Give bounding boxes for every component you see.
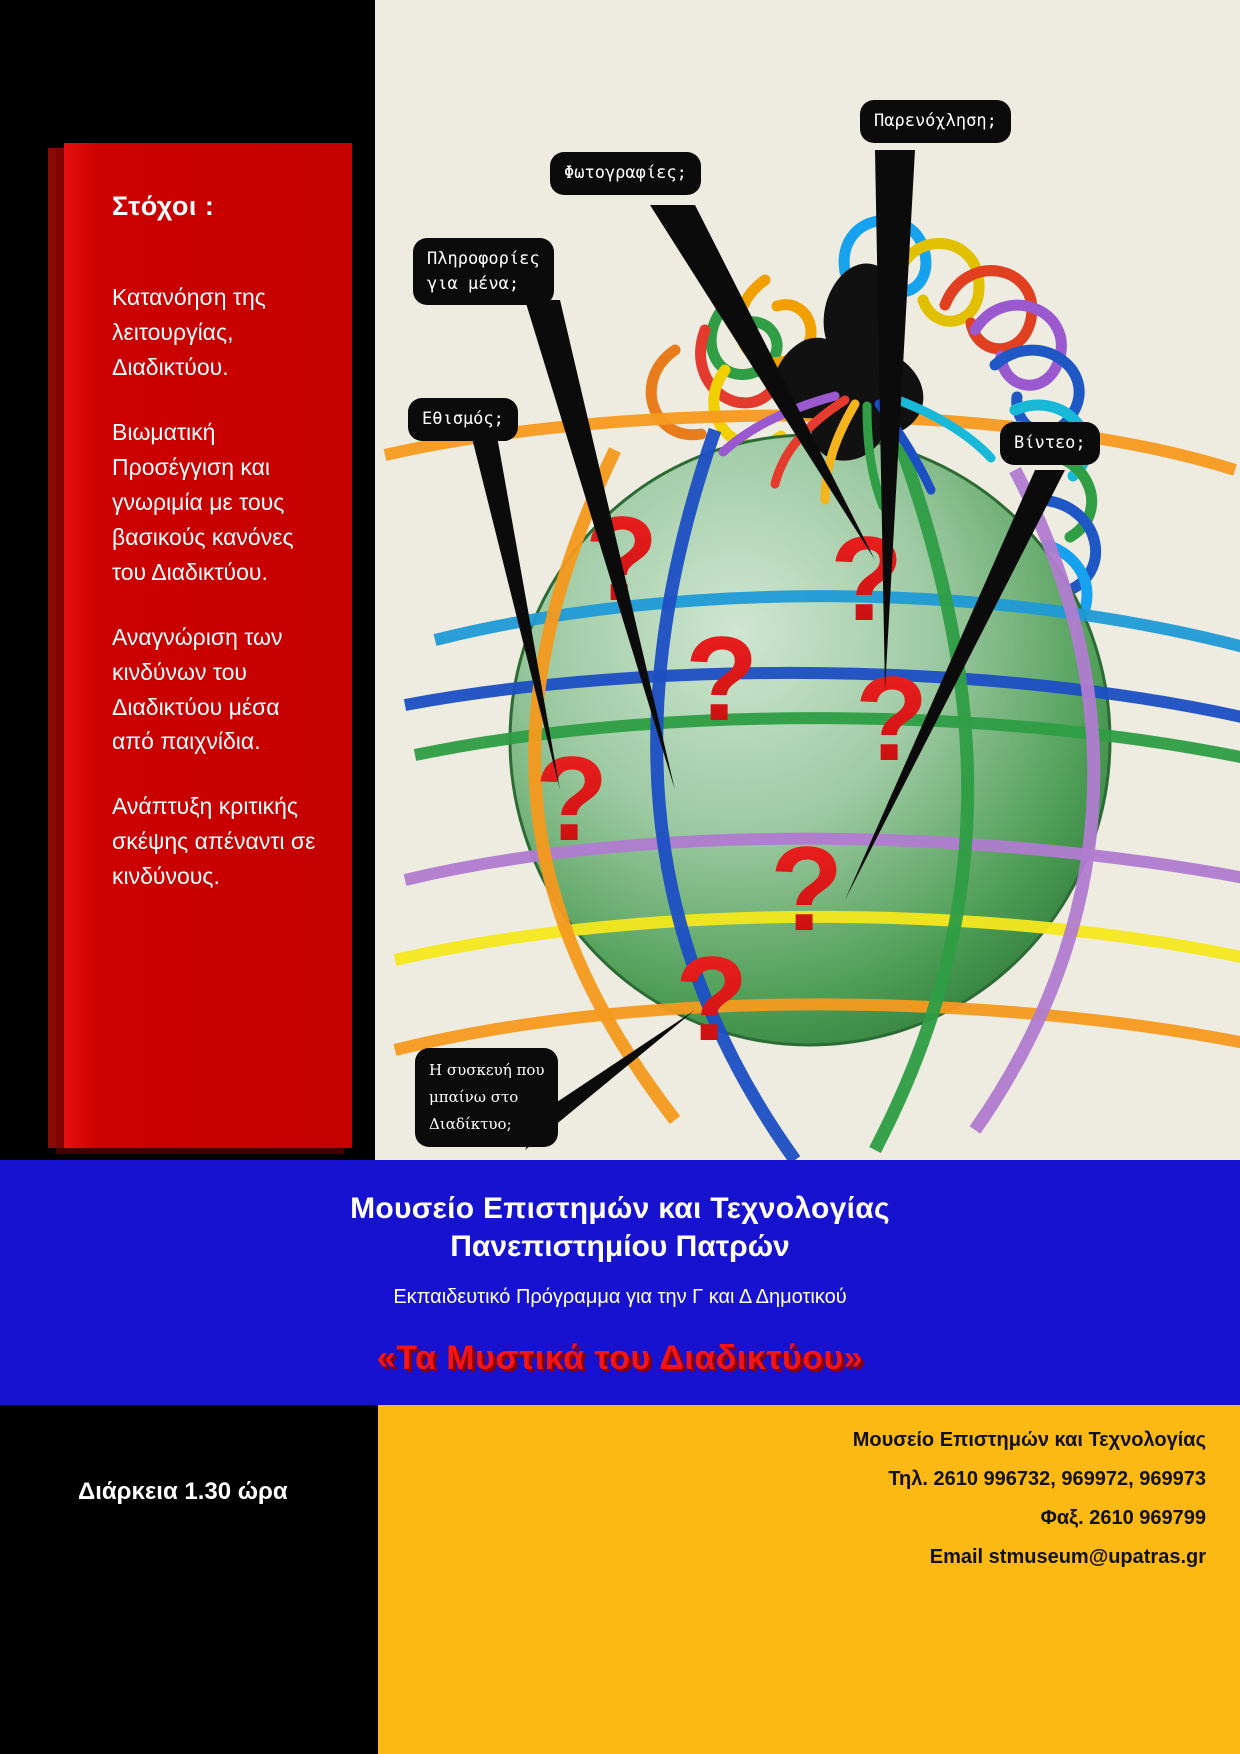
- program-title: «Τα Μυστικά του Διαδικτύου»: [0, 1339, 1240, 1378]
- bubble-harassment[interactable]: Παρενόχληση;: [860, 100, 1011, 143]
- svg-text:?: ?: [535, 732, 608, 866]
- contact-box: Μουσείο Επιστημών και Τεχνολογίας Τηλ. 2…: [378, 1405, 1240, 1754]
- poster-root: ? ? ? ? ? ? ? Εθισμός; Πληροφορίες για μ…: [0, 0, 1240, 1754]
- svg-text:?: ?: [830, 512, 903, 646]
- svg-text:?: ?: [675, 932, 748, 1066]
- objectives-title: Στόχοι :: [112, 191, 326, 222]
- svg-text:?: ?: [770, 822, 843, 956]
- objective-item: Κατανόηση της λειτουργίας, Διαδικτύου.: [112, 280, 326, 385]
- contact-phone: Τηλ. 2610 996732, 969972, 969973: [853, 1460, 1206, 1499]
- bubble-information[interactable]: Πληροφορίες για μένα;: [413, 238, 554, 305]
- museum-name-line2: Πανεπιστημίου Πατρών: [0, 1230, 1240, 1264]
- objectives-card: Στόχοι : Κατανόηση της λειτουργίας, Διαδ…: [64, 143, 352, 1148]
- svg-text:?: ?: [685, 612, 758, 746]
- bubble-photos[interactable]: Φωτογραφίες;: [550, 152, 701, 195]
- bottom-black-strip: [0, 1405, 378, 1754]
- objective-item: Ανάπτυξη κριτικής σκέψης απέναντι σε κιν…: [112, 789, 326, 894]
- contact-details: Μουσείο Επιστημών και Τεχνολογίας Τηλ. 2…: [853, 1421, 1206, 1577]
- objective-item: Αναγνώριση των κινδύνων του Διαδικτύου μ…: [112, 620, 326, 760]
- contact-org: Μουσείο Επιστημών και Τεχνολογίας: [853, 1421, 1206, 1460]
- globe-illustration: ? ? ? ? ? ? ?: [375, 0, 1240, 1160]
- svg-text:?: ?: [585, 492, 658, 626]
- duration-label: Διάρκεια 1.30 ώρα: [78, 1478, 288, 1506]
- bubble-device[interactable]: Η συσκευή που μπαίνω στο Διαδίκτυο;: [415, 1048, 558, 1147]
- svg-text:?: ?: [855, 652, 928, 786]
- objective-item: Βιωματική Προσέγγιση και γνωριμία με του…: [112, 415, 326, 590]
- bubble-video[interactable]: Βίντεο;: [1000, 422, 1100, 465]
- footer-blue-band: Μουσείο Επιστημών και Τεχνολογίας Πανεπι…: [0, 1160, 1240, 1405]
- museum-name-line1: Μουσείο Επιστημών και Τεχνολογίας: [0, 1192, 1240, 1226]
- contact-fax: Φαξ. 2610 969799: [853, 1499, 1206, 1538]
- bubble-addiction[interactable]: Εθισμός;: [408, 398, 518, 441]
- contact-email: Email stmuseum@upatras.gr: [853, 1538, 1206, 1577]
- program-subtitle: Εκπαιδευτικό Πρόγραμμα για την Γ και Δ Δ…: [0, 1286, 1240, 1309]
- artwork-panel: ? ? ? ? ? ? ? Εθισμός; Πληροφορίες για μ…: [375, 0, 1240, 1160]
